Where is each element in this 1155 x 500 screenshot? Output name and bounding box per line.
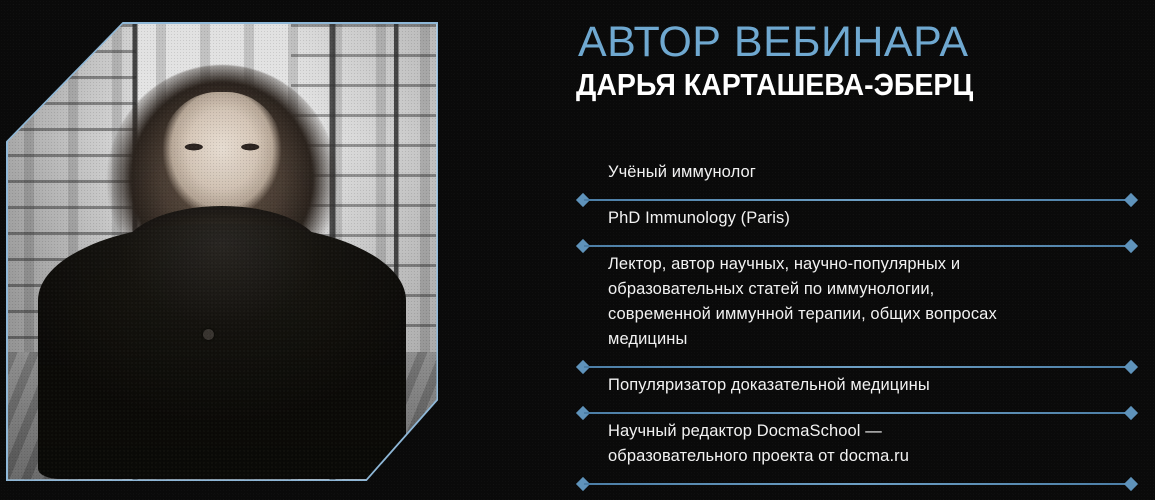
list-item: Учёный иммунолог (608, 160, 1136, 194)
credential-text: Лектор, автор научных, научно-популярных… (608, 252, 1136, 361)
photo-clip (8, 24, 437, 480)
credential-text: Научный редактор DocmaSchool — образоват… (608, 419, 1136, 478)
diamond-right-icon (1124, 360, 1138, 374)
list-item: Научный редактор DocmaSchool — образоват… (608, 419, 1136, 478)
credential-text: PhD Immunology (Paris) (608, 206, 1136, 240)
divider-rule (584, 412, 1130, 414)
divider (578, 194, 1136, 206)
divider (578, 478, 1136, 490)
diamond-right-icon (1124, 193, 1138, 207)
page-title: АВТОР ВЕБИНАРА (578, 18, 969, 66)
diamond-right-icon (1124, 406, 1138, 420)
list-item: Лектор, автор научных, научно-популярных… (608, 252, 1136, 361)
author-photo (6, 22, 438, 481)
divider-rule (584, 245, 1130, 247)
webinar-author-slide: АВТОР ВЕБИНАРА ДАРЬЯ КАРТАШЕВА-ЭБЕРЦ Учё… (0, 0, 1155, 500)
list-item: PhD Immunology (Paris) (608, 206, 1136, 240)
divider-rule (584, 199, 1130, 201)
diamond-right-icon (1124, 477, 1138, 491)
divider (578, 407, 1136, 419)
photo-grain (8, 24, 437, 480)
credentials-list: Учёный иммунолог PhD Immunology (Paris) … (608, 160, 1136, 490)
list-item: Популяризатор доказательной медицины (608, 373, 1136, 407)
content-column: АВТОР ВЕБИНАРА ДАРЬЯ КАРТАШЕВА-ЭБЕРЦ Учё… (578, 0, 1136, 500)
diamond-right-icon (1124, 239, 1138, 253)
divider-rule (584, 366, 1130, 368)
author-name: ДАРЬЯ КАРТАШЕВА-ЭБЕРЦ (576, 66, 973, 104)
divider (578, 240, 1136, 252)
credential-text: Популяризатор доказательной медицины (608, 373, 1136, 407)
divider-rule (584, 483, 1130, 485)
divider (578, 361, 1136, 373)
credential-text: Учёный иммунолог (608, 160, 1136, 194)
